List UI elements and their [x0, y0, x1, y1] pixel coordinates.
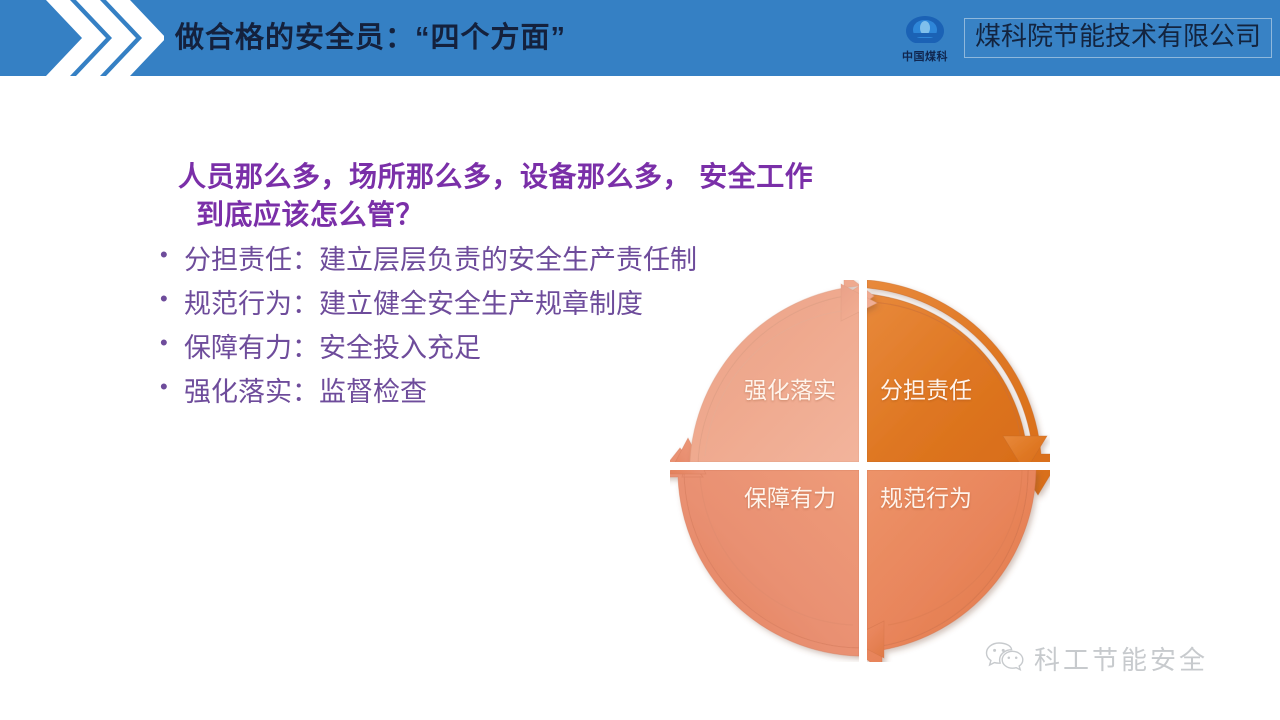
lead-heading-line2: 到底应该怎么管？: [178, 196, 978, 234]
list-item: 分担责任：建立层层负责的安全生产责任制: [158, 238, 918, 282]
brand-logo: 中国煤科: [894, 14, 956, 63]
page-title: 做合格的安全员：“四个方面”: [175, 14, 566, 56]
watermark-text: 科工节能安全: [1034, 640, 1208, 677]
double-chevron-right-icon: [44, 0, 164, 76]
cycle-segment-guifanxingwei: [848, 466, 1036, 662]
four-quadrant-cycle-diagram: 分担责任 规范行为 保障有力 强化落实: [670, 280, 1050, 662]
slide-header-bar: 做合格的安全员：“四个方面” 中国煤科 煤科院节能技术有限公司: [0, 0, 1280, 76]
lead-heading: 人员那么多，场所那么多，设备那么多， 安全工作 到底应该怎么管？: [178, 158, 978, 233]
watermark: 科工节能安全: [985, 640, 1208, 677]
lead-heading-line1: 人员那么多，场所那么多，设备那么多， 安全工作: [178, 161, 813, 192]
company-name-box: 煤科院节能技术有限公司: [964, 18, 1272, 58]
wechat-icon: [985, 640, 1025, 677]
china-coal-science-logo-icon: [902, 14, 948, 51]
cycle-segment-qianghualuoshi: [690, 280, 877, 462]
brand-block: 中国煤科 煤科院节能技术有限公司: [894, 4, 1272, 72]
brand-logo-text: 中国煤科: [902, 52, 948, 63]
cycle-segment-baozhangyouli: [670, 438, 859, 656]
